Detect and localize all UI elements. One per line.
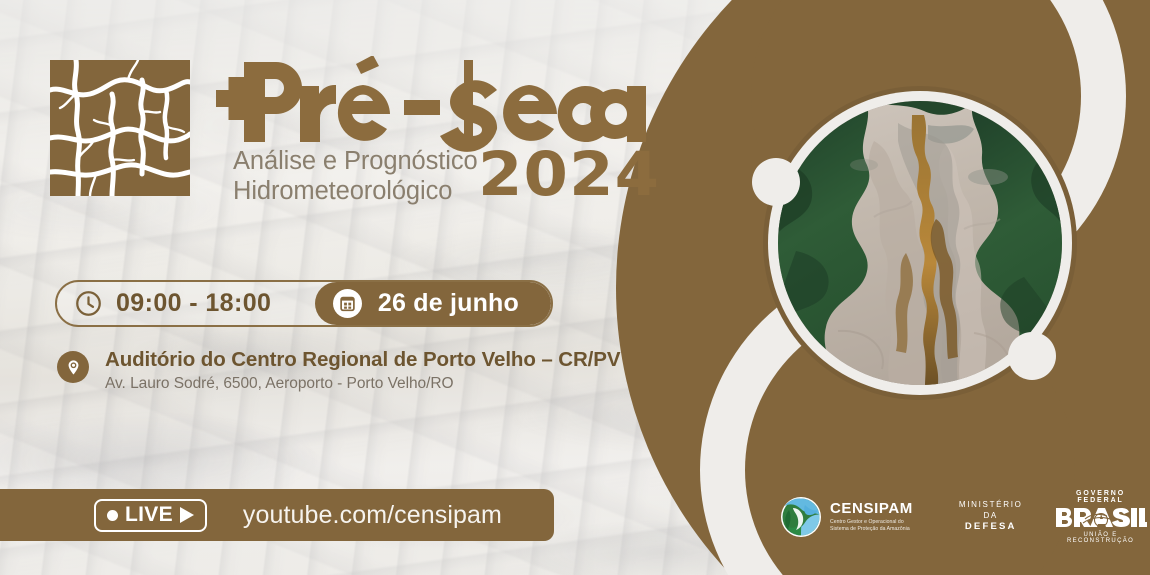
cream-arc-top-mask bbox=[916, 0, 1036, 48]
ministry-of-defense-logo: MINISTÉRIO DA DEFESA bbox=[959, 500, 1023, 534]
censipam-name: CENSIPAM bbox=[830, 501, 913, 516]
live-badge[interactable]: LIVE bbox=[94, 499, 207, 532]
censipam-logo: CENSIPAM Centro Gestor e Operacional do … bbox=[780, 496, 913, 538]
ring-dot-upper-left bbox=[752, 158, 800, 206]
ministry-line-1: MINISTÉRIO DA bbox=[959, 500, 1023, 522]
calendar-icon bbox=[333, 289, 362, 318]
brasil-wordmark-icon bbox=[1055, 506, 1147, 531]
subtitle: Análise e Prognóstico Hidrometeorológico bbox=[233, 146, 478, 206]
live-dot-icon bbox=[107, 510, 118, 521]
ring-dot-lower-right bbox=[1008, 332, 1056, 380]
event-date: 26 de junho bbox=[378, 289, 519, 318]
date-segment: 26 de junho bbox=[315, 282, 551, 325]
map-pin-icon bbox=[57, 351, 89, 383]
year-label: 2024 bbox=[478, 140, 660, 210]
government-brasil-logo: GOVERNO FEDERAL bbox=[1055, 490, 1147, 544]
cracked-earth-square-icon bbox=[50, 60, 190, 196]
censipam-sub-2: Sistema de Proteção da Amazônia bbox=[830, 526, 913, 533]
venue-address: Av. Lauro Sodré, 6500, Aeroporto - Porto… bbox=[105, 375, 620, 393]
title-block: 2024 Análise e Prognóstico Hidrometeorol… bbox=[216, 56, 646, 206]
government-line-1: GOVERNO FEDERAL bbox=[1055, 490, 1147, 504]
censipam-text: CENSIPAM Centro Gestor e Operacional do … bbox=[830, 501, 913, 533]
subtitle-line-2: Hidrometeorológico bbox=[233, 176, 478, 206]
footer-logos: CENSIPAM Centro Gestor e Operacional do … bbox=[780, 488, 1130, 546]
venue-name: Auditório do Centro Regional de Porto Ve… bbox=[105, 348, 620, 372]
youtube-url[interactable]: youtube.com/censipam bbox=[243, 501, 502, 530]
censipam-sub-1: Centro Gestor e Operacional do bbox=[830, 519, 913, 526]
live-stream-bar[interactable]: LIVE youtube.com/censipam bbox=[0, 489, 554, 541]
ministry-line-2: DEFESA bbox=[959, 521, 1023, 534]
play-icon bbox=[180, 507, 194, 523]
venue-text: Auditório do Centro Regional de Porto Ve… bbox=[105, 348, 620, 393]
live-label: LIVE bbox=[125, 503, 173, 527]
schedule-pill: 09:00 - 18:00 26 de junho bbox=[55, 280, 553, 327]
venue-block: Auditório do Centro Regional de Porto Ve… bbox=[57, 348, 620, 393]
censipam-globe-icon bbox=[780, 496, 822, 538]
event-banner: 2024 Análise e Prognóstico Hidrometeorol… bbox=[0, 0, 1150, 575]
clock-icon bbox=[75, 290, 102, 317]
time-segment: 09:00 - 18:00 bbox=[57, 282, 295, 325]
subtitle-line-1: Análise e Prognóstico bbox=[233, 146, 478, 176]
government-line-3: UNIÃO E RECONSTRUÇÃO bbox=[1055, 532, 1147, 544]
event-time: 09:00 - 18:00 bbox=[116, 289, 271, 318]
